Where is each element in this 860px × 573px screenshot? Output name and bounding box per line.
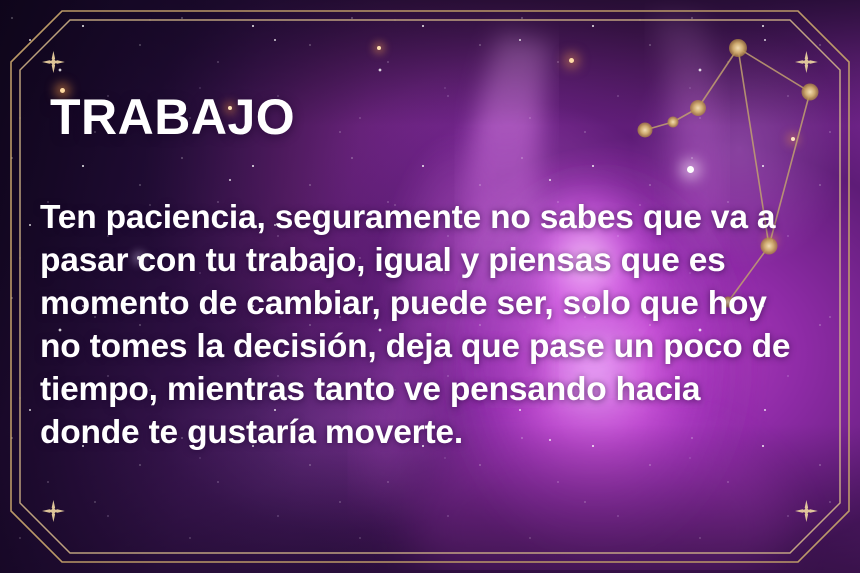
horoscope-body-text: Ten paciencia, seguramente no sabes que … (40, 196, 810, 454)
text-content: TRABAJO Ten paciencia, seguramente no sa… (0, 0, 860, 573)
page-title: TRABAJO (50, 92, 295, 142)
horoscope-card: TRABAJO Ten paciencia, seguramente no sa… (0, 0, 860, 573)
